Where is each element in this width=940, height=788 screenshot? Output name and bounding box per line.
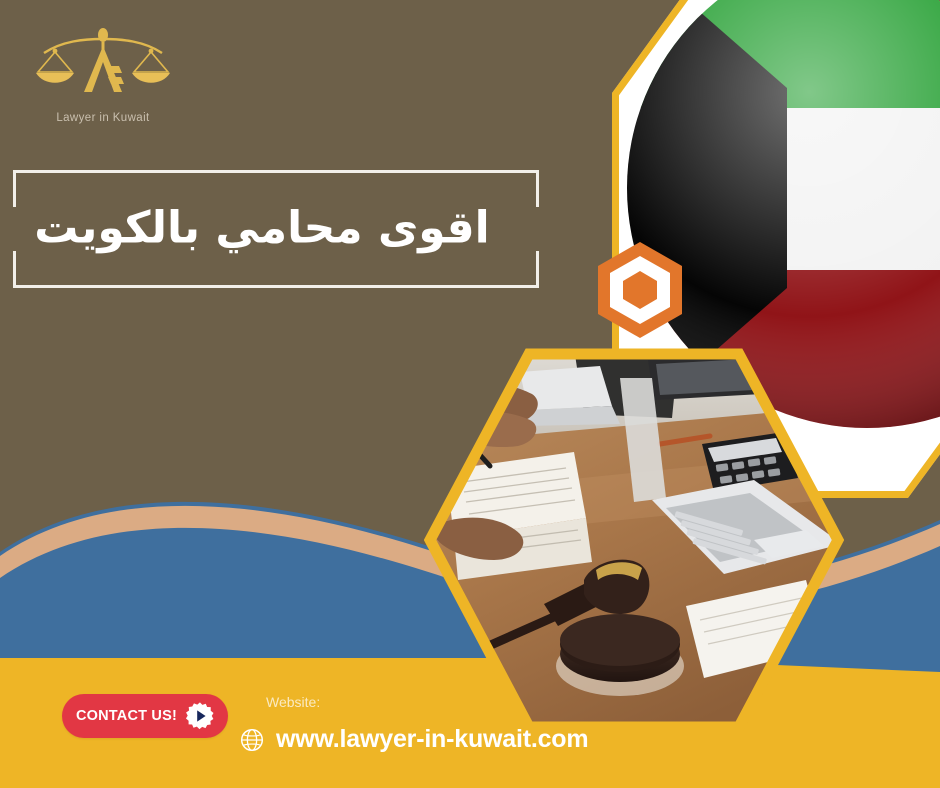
play-arrow-starburst-icon (186, 702, 214, 730)
brand-logo: Lawyer in Kuwait (18, 26, 188, 136)
globe-icon (240, 728, 264, 752)
frame-corner-top-right (490, 170, 539, 207)
frame-line-top (57, 170, 495, 173)
frame-corner-bottom-right (490, 251, 539, 288)
website-url-row[interactable]: www.lawyer-in-kuwait.com (240, 725, 588, 754)
headline-frame: اقوى محامي بالكويت (13, 170, 539, 288)
poster-canvas: Lawyer in Kuwait اقوى محامي بالكويت (0, 0, 940, 788)
brand-logo-label: Lawyer in Kuwait (18, 112, 188, 124)
headline-text: اقوى محامي بالكويت (13, 203, 511, 256)
scales-of-justice-icon (28, 26, 178, 110)
frame-corner-top-left (13, 170, 62, 207)
orange-hexagon-badge-icon (594, 240, 686, 340)
frame-line-bottom (57, 285, 495, 288)
contact-us-button-label: CONTACT US! (76, 708, 177, 724)
website-label: Website: (266, 694, 320, 710)
website-url-text: www.lawyer-in-kuwait.com (276, 725, 588, 754)
contact-us-button[interactable]: CONTACT US! (62, 694, 228, 738)
footer-bar: CONTACT US! Website: www.lawyer-in-kuwai… (0, 658, 940, 788)
frame-corner-bottom-left (13, 251, 62, 288)
